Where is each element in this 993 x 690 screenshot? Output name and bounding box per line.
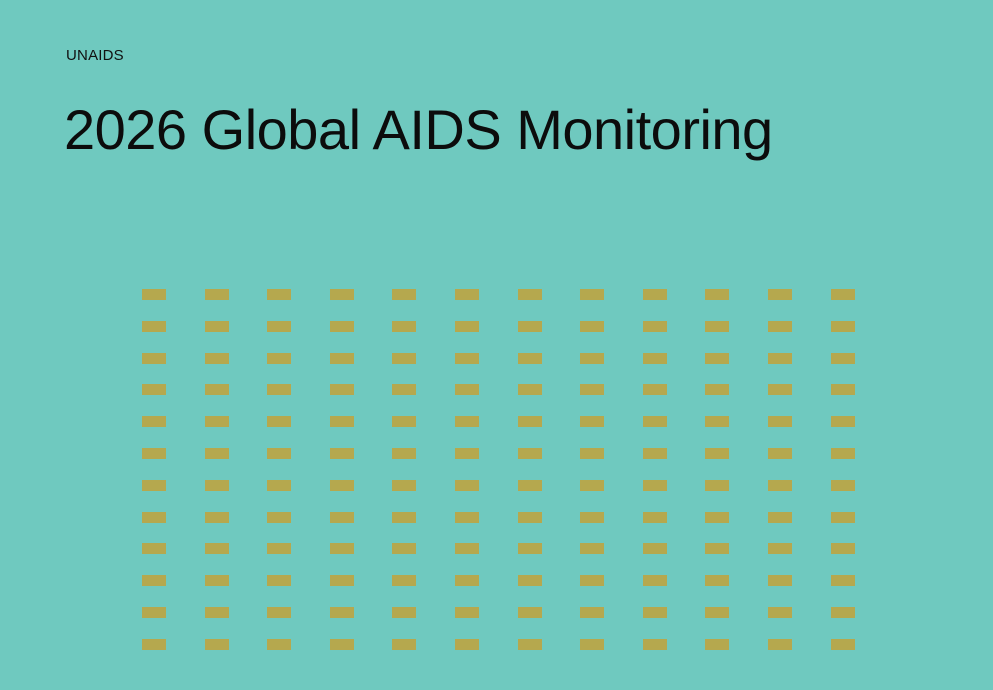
dash-mark — [267, 416, 291, 427]
dash-mark — [643, 607, 667, 618]
dash-mark — [455, 353, 479, 364]
dash-mark — [455, 575, 479, 586]
dash-mark — [330, 416, 354, 427]
dash-mark — [768, 448, 792, 459]
dash-mark — [205, 448, 229, 459]
dash-mark — [267, 607, 291, 618]
dash-row — [142, 575, 855, 607]
dash-mark — [831, 384, 855, 395]
dash-mark — [267, 639, 291, 650]
dash-mark — [518, 384, 542, 395]
dash-mark — [142, 480, 166, 491]
dash-mark — [392, 448, 416, 459]
dash-mark — [768, 512, 792, 523]
dash-mark — [705, 512, 729, 523]
dash-row — [142, 384, 855, 416]
dash-mark — [205, 416, 229, 427]
dash-mark — [831, 480, 855, 491]
dash-mark — [768, 480, 792, 491]
dash-mark — [768, 607, 792, 618]
dash-mark — [831, 353, 855, 364]
dash-mark — [643, 353, 667, 364]
dash-row — [142, 353, 855, 385]
dash-mark — [831, 543, 855, 554]
dash-mark — [392, 512, 416, 523]
dash-mark — [831, 512, 855, 523]
dash-mark — [205, 289, 229, 300]
dash-mark — [768, 543, 792, 554]
dash-mark — [643, 289, 667, 300]
dash-mark — [392, 353, 416, 364]
dash-mark — [705, 289, 729, 300]
organization-label: UNAIDS — [66, 47, 124, 65]
dash-mark — [643, 543, 667, 554]
dash-row — [142, 480, 855, 512]
dash-mark — [580, 607, 604, 618]
dash-mark — [580, 321, 604, 332]
dash-mark — [455, 448, 479, 459]
dash-mark — [831, 289, 855, 300]
dash-mark — [205, 321, 229, 332]
dash-mark — [392, 575, 416, 586]
dash-mark — [142, 353, 166, 364]
dash-mark — [518, 289, 542, 300]
dash-row — [142, 289, 855, 321]
dash-mark — [580, 353, 604, 364]
dash-mark — [267, 543, 291, 554]
dash-mark — [831, 607, 855, 618]
dash-mark — [705, 639, 729, 650]
dash-mark — [330, 353, 354, 364]
dash-mark — [768, 289, 792, 300]
dash-mark — [267, 384, 291, 395]
dash-mark — [580, 575, 604, 586]
dash-mark — [580, 543, 604, 554]
dash-mark — [267, 321, 291, 332]
dash-mark — [768, 321, 792, 332]
dash-row — [142, 607, 855, 639]
dash-mark — [330, 384, 354, 395]
dash-mark — [580, 416, 604, 427]
dash-mark — [267, 480, 291, 491]
dash-mark — [705, 607, 729, 618]
dash-mark — [330, 289, 354, 300]
dash-mark — [705, 480, 729, 491]
dash-mark — [768, 353, 792, 364]
dash-mark — [330, 639, 354, 650]
dash-mark — [643, 639, 667, 650]
dash-mark — [580, 289, 604, 300]
dash-mark — [267, 448, 291, 459]
dash-mark — [455, 384, 479, 395]
dash-mark — [142, 416, 166, 427]
dash-mark — [455, 321, 479, 332]
dash-row — [142, 543, 855, 575]
dash-mark — [705, 353, 729, 364]
dash-mark — [643, 575, 667, 586]
dash-mark — [392, 416, 416, 427]
dash-mark — [705, 384, 729, 395]
dash-mark — [330, 480, 354, 491]
dash-mark — [455, 639, 479, 650]
decorative-dash-grid — [142, 289, 855, 671]
dash-mark — [267, 512, 291, 523]
dash-mark — [142, 289, 166, 300]
dash-mark — [205, 543, 229, 554]
dash-mark — [768, 575, 792, 586]
dash-mark — [518, 416, 542, 427]
dash-mark — [455, 512, 479, 523]
dash-mark — [205, 639, 229, 650]
dash-mark — [330, 607, 354, 618]
dash-mark — [643, 384, 667, 395]
dash-mark — [142, 607, 166, 618]
dash-mark — [705, 321, 729, 332]
dash-mark — [267, 289, 291, 300]
dash-mark — [330, 321, 354, 332]
dash-mark — [455, 543, 479, 554]
dash-mark — [392, 639, 416, 650]
dash-mark — [643, 448, 667, 459]
dash-mark — [142, 575, 166, 586]
dash-mark — [455, 480, 479, 491]
dash-mark — [580, 512, 604, 523]
dash-mark — [330, 512, 354, 523]
dash-mark — [831, 321, 855, 332]
dash-mark — [142, 543, 166, 554]
dash-mark — [518, 575, 542, 586]
dash-mark — [705, 448, 729, 459]
dash-mark — [205, 607, 229, 618]
dash-mark — [580, 384, 604, 395]
dash-mark — [643, 416, 667, 427]
dash-mark — [580, 480, 604, 491]
dash-mark — [705, 575, 729, 586]
dash-mark — [267, 353, 291, 364]
dash-mark — [142, 512, 166, 523]
dash-mark — [518, 353, 542, 364]
dash-mark — [205, 480, 229, 491]
dash-row — [142, 512, 855, 544]
dash-mark — [330, 543, 354, 554]
dash-mark — [330, 448, 354, 459]
dash-mark — [142, 321, 166, 332]
dash-mark — [768, 639, 792, 650]
dash-mark — [518, 512, 542, 523]
page-title: 2026 Global AIDS Monitoring — [64, 96, 773, 164]
slide-canvas: UNAIDS 2026 Global AIDS Monitoring — [0, 0, 993, 690]
dash-mark — [518, 480, 542, 491]
dash-mark — [392, 321, 416, 332]
dash-mark — [831, 639, 855, 650]
dash-row — [142, 416, 855, 448]
dash-mark — [643, 512, 667, 523]
dash-mark — [205, 384, 229, 395]
dash-row — [142, 639, 855, 671]
dash-mark — [330, 575, 354, 586]
dash-mark — [267, 575, 291, 586]
dash-mark — [705, 416, 729, 427]
dash-mark — [768, 416, 792, 427]
dash-mark — [142, 448, 166, 459]
dash-mark — [831, 448, 855, 459]
dash-mark — [768, 384, 792, 395]
dash-mark — [831, 575, 855, 586]
dash-mark — [205, 512, 229, 523]
dash-row — [142, 448, 855, 480]
dash-mark — [643, 321, 667, 332]
dash-mark — [392, 480, 416, 491]
dash-mark — [580, 639, 604, 650]
dash-mark — [705, 543, 729, 554]
dash-mark — [643, 480, 667, 491]
dash-mark — [518, 607, 542, 618]
dash-mark — [142, 639, 166, 650]
dash-mark — [518, 321, 542, 332]
dash-mark — [518, 543, 542, 554]
dash-mark — [392, 384, 416, 395]
dash-mark — [205, 575, 229, 586]
dash-mark — [518, 639, 542, 650]
dash-mark — [392, 543, 416, 554]
dash-mark — [205, 353, 229, 364]
dash-mark — [455, 607, 479, 618]
dash-mark — [518, 448, 542, 459]
dash-mark — [142, 384, 166, 395]
dash-mark — [392, 289, 416, 300]
dash-mark — [580, 448, 604, 459]
dash-mark — [831, 416, 855, 427]
dash-mark — [455, 289, 479, 300]
dash-mark — [392, 607, 416, 618]
dash-mark — [455, 416, 479, 427]
dash-row — [142, 321, 855, 353]
